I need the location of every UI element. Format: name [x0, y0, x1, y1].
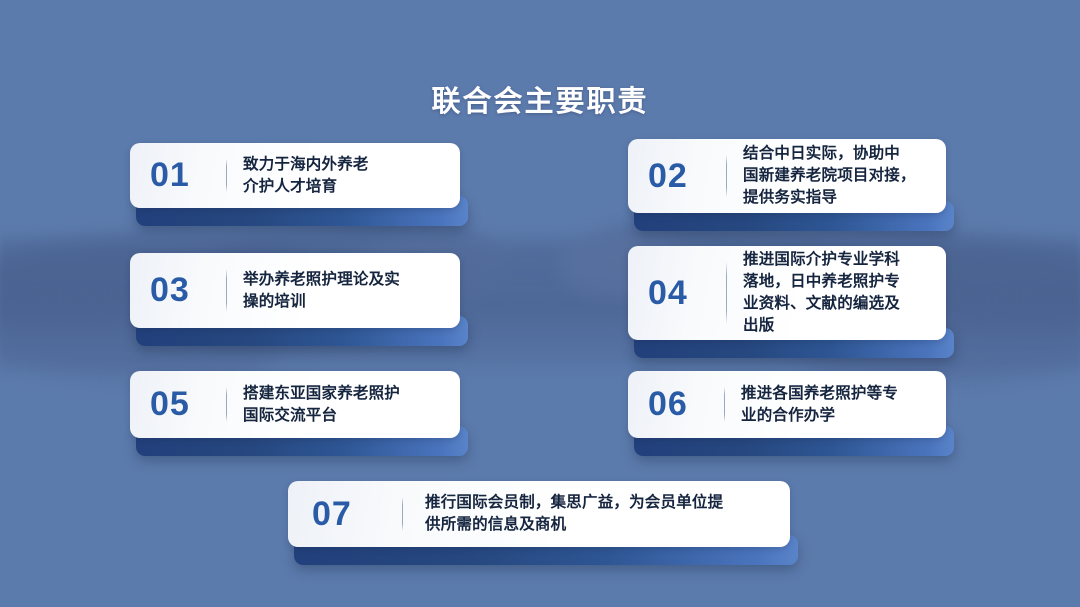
- card-face: 05 搭建东亚国家养老照护 国际交流平台: [130, 371, 460, 438]
- responsibility-card-06[interactable]: 06 推进各国养老照护等专 业的合作办学: [628, 371, 946, 456]
- card-face: 02 结合中日实际，协助中 国新建养老院项目对接， 提供务实指导: [628, 139, 946, 213]
- card-number: 04: [648, 274, 722, 313]
- card-face: 07 推行国际会员制，集思广益，为会员单位提 供所需的信息及商机: [288, 481, 790, 547]
- card-face: 01 致力于海内外养老 介护人才培育: [130, 143, 460, 208]
- responsibility-card-03[interactable]: 03 举办养老照护理论及实 操的培训: [130, 253, 460, 346]
- card-description: 推进各国养老照护等专 业的合作办学: [741, 383, 932, 427]
- responsibility-card-02[interactable]: 02 结合中日实际，协助中 国新建养老院项目对接， 提供务实指导: [628, 139, 946, 231]
- card-face: 04 推进国际介护专业学科 落地，日中养老照护专 业资料、文献的编选及 出版: [628, 246, 946, 340]
- card-number: 07: [312, 495, 394, 534]
- card-divider: [226, 159, 227, 192]
- card-description: 搭建东亚国家养老照护 国际交流平台: [243, 383, 446, 427]
- responsibility-card-05[interactable]: 05 搭建东亚国家养老照护 国际交流平台: [130, 371, 460, 456]
- card-description: 结合中日实际，协助中 国新建养老院项目对接， 提供务实指导: [743, 143, 932, 209]
- card-number: 01: [150, 156, 222, 195]
- card-divider: [726, 155, 727, 197]
- card-divider: [726, 262, 727, 324]
- card-description: 推行国际会员制，集思广益，为会员单位提 供所需的信息及商机: [425, 492, 776, 536]
- card-description: 举办养老照护理论及实 操的培训: [243, 269, 446, 313]
- card-number: 02: [648, 157, 722, 196]
- card-divider: [402, 497, 403, 531]
- card-divider: [226, 269, 227, 312]
- slide-canvas: 联合会主要职责 01 致力于海内外养老 介护人才培育 03 举办养老照护理论及实…: [0, 0, 1080, 607]
- card-divider: [226, 387, 227, 422]
- card-number: 03: [150, 271, 222, 310]
- card-description: 致力于海内外养老 介护人才培育: [243, 154, 446, 198]
- responsibility-card-04[interactable]: 04 推进国际介护专业学科 落地，日中养老照护专 业资料、文献的编选及 出版: [628, 246, 946, 358]
- card-face: 03 举办养老照护理论及实 操的培训: [130, 253, 460, 328]
- page-title: 联合会主要职责: [0, 78, 1080, 120]
- responsibility-card-07[interactable]: 07 推行国际会员制，集思广益，为会员单位提 供所需的信息及商机: [288, 481, 790, 565]
- card-number: 06: [648, 385, 720, 424]
- card-number: 05: [150, 385, 222, 424]
- card-description: 推进国际介护专业学科 落地，日中养老照护专 业资料、文献的编选及 出版: [743, 249, 932, 337]
- responsibility-card-01[interactable]: 01 致力于海内外养老 介护人才培育: [130, 143, 460, 226]
- card-divider: [724, 387, 725, 422]
- card-face: 06 推进各国养老照护等专 业的合作办学: [628, 371, 946, 438]
